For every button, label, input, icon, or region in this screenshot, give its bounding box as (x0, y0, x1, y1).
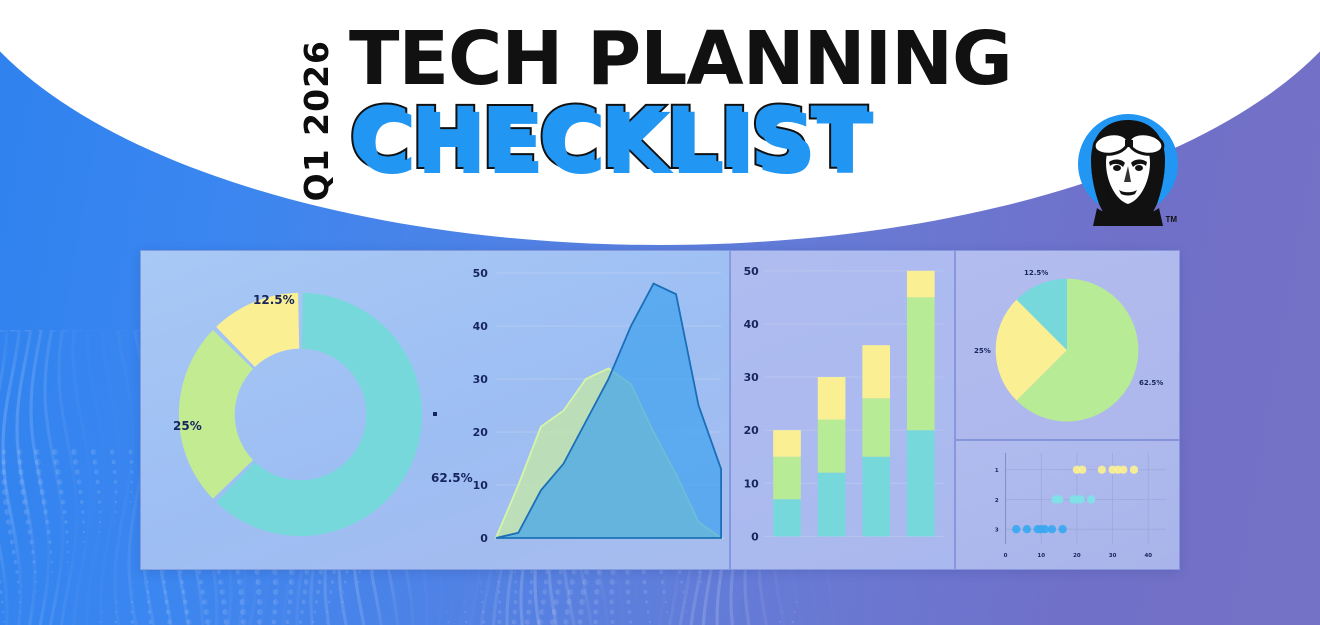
scatter-chart-svg: 010203040123 (956, 441, 1179, 568)
pie-label-teal: 12.5% (1024, 269, 1048, 277)
pie-label-yellow: 25% (974, 347, 991, 355)
dashboard-panel-group: 12.5% 25% 62.5% 01020304050 01020304050 (140, 250, 1180, 570)
pie-chart-svg (956, 251, 1179, 439)
area-chart[interactable]: 01020304050 (460, 251, 729, 569)
svg-text:30: 30 (744, 371, 760, 384)
scatter-chart[interactable]: 010203040123 (955, 440, 1180, 570)
donut-legend-dot (433, 412, 437, 416)
title-block: Q1 2026 TECH PLANNING CHECKLIST (300, 24, 1012, 201)
svg-text:20: 20 (744, 424, 760, 437)
svg-text:30: 30 (1109, 553, 1117, 559)
svg-text:2: 2 (995, 498, 999, 504)
svg-text:50: 50 (473, 267, 489, 280)
svg-text:40: 40 (1144, 553, 1152, 559)
stacked-bar-chart[interactable]: 01020304050 (730, 250, 955, 570)
svg-text:40: 40 (744, 318, 760, 331)
svg-text:50: 50 (744, 265, 760, 278)
svg-text:10: 10 (1037, 553, 1045, 559)
svg-text:3: 3 (995, 528, 999, 534)
title-line-secondary: CHECKLIST (349, 96, 1012, 182)
donut-chart-svg (141, 251, 460, 570)
donut-label-yellow: 12.5% (253, 293, 295, 307)
panel-donut-and-area: 12.5% 25% 62.5% 01020304050 (140, 250, 730, 570)
header: Q1 2026 TECH PLANNING CHECKLIST (0, 0, 1320, 240)
brand-logo: TM (1073, 108, 1183, 228)
svg-text:0: 0 (1004, 553, 1008, 559)
svg-text:0: 0 (751, 530, 759, 543)
svg-text:0: 0 (480, 532, 488, 545)
pie-chart[interactable]: 12.5% 25% 62.5% (955, 250, 1180, 440)
svg-text:10: 10 (744, 477, 760, 490)
svg-text:30: 30 (473, 373, 489, 386)
svg-text:20: 20 (473, 426, 489, 439)
panel-pie-and-scatter: 12.5% 25% 62.5% 010203040123 (955, 250, 1180, 570)
aviator-head-icon (1073, 108, 1183, 228)
title-line-primary: TECH PLANNING (349, 24, 1012, 94)
donut-chart[interactable]: 12.5% 25% 62.5% (141, 251, 460, 569)
svg-text:1: 1 (995, 468, 999, 474)
svg-text:40: 40 (473, 320, 489, 333)
svg-text:20: 20 (1073, 553, 1081, 559)
quarter-label: Q1 2026 (300, 40, 333, 201)
area-chart-svg: 01020304050 (460, 251, 729, 570)
svg-text:10: 10 (473, 479, 489, 492)
page-title: TECH PLANNING CHECKLIST (349, 24, 1012, 182)
trademark-label: TM (1165, 215, 1177, 224)
pie-label-green: 62.5% (1139, 379, 1163, 387)
stacked-bar-chart-svg: 01020304050 (731, 251, 954, 568)
donut-label-green: 25% (173, 419, 202, 433)
